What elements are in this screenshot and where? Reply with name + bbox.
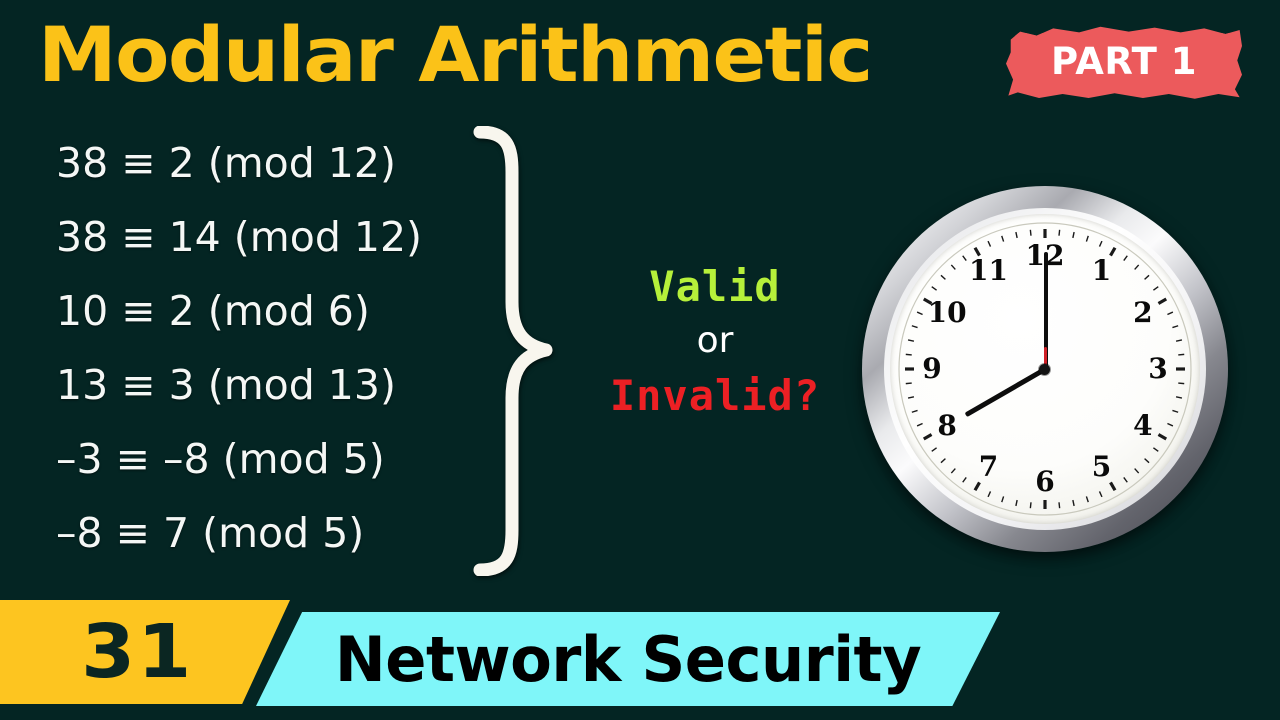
equation-row: –3 ≡ –8 (mod 5) [56, 422, 486, 496]
invalid-label: Invalid? [600, 370, 830, 422]
clock-numeral-9: 9 [910, 350, 954, 388]
verdict-block: Valid or Invalid? [600, 262, 830, 422]
clock-numeral-2: 2 [1121, 294, 1165, 332]
badge-label: PART 1 [1006, 22, 1242, 102]
clock-numeral-7: 7 [967, 448, 1011, 486]
curly-brace-icon [472, 126, 572, 576]
clock-face: 123456789101112 [890, 214, 1200, 524]
course-title: Network Security [264, 612, 999, 706]
clock-numeral-6: 6 [1023, 463, 1067, 501]
clock-numeral-3: 3 [1136, 350, 1180, 388]
part-badge: PART 1 [1006, 22, 1242, 102]
page-title: Modular Arithmetic [38, 14, 872, 96]
clock-numeral-11: 11 [967, 252, 1011, 290]
clock-numeral-8: 8 [925, 407, 969, 445]
footer-banner: 31 Network Security [0, 596, 1000, 706]
equation-row: 10 ≡ 2 (mod 6) [56, 274, 486, 348]
equation-row: –8 ≡ 7 (mod 5) [56, 496, 486, 570]
clock-numeral-1: 1 [1080, 252, 1124, 290]
equation-row: 13 ≡ 3 (mod 13) [56, 348, 486, 422]
analog-clock: 123456789101112 [858, 182, 1234, 562]
or-label: or [600, 312, 830, 370]
clock-numeral-5: 5 [1080, 448, 1124, 486]
slide-canvas: Modular Arithmetic PART 1 38 ≡ 2 (mod 12… [0, 0, 1280, 720]
equation-row: 38 ≡ 14 (mod 12) [56, 200, 486, 274]
valid-label: Valid [600, 262, 830, 312]
clock-bezel: 123456789101112 [862, 186, 1228, 552]
clock-center-hub [1039, 364, 1050, 375]
clock-numeral-10: 10 [925, 294, 969, 332]
clock-numeral-4: 4 [1121, 407, 1165, 445]
equation-list: 38 ≡ 2 (mod 12) 38 ≡ 14 (mod 12) 10 ≡ 2 … [56, 126, 486, 570]
equation-row: 38 ≡ 2 (mod 12) [56, 126, 486, 200]
